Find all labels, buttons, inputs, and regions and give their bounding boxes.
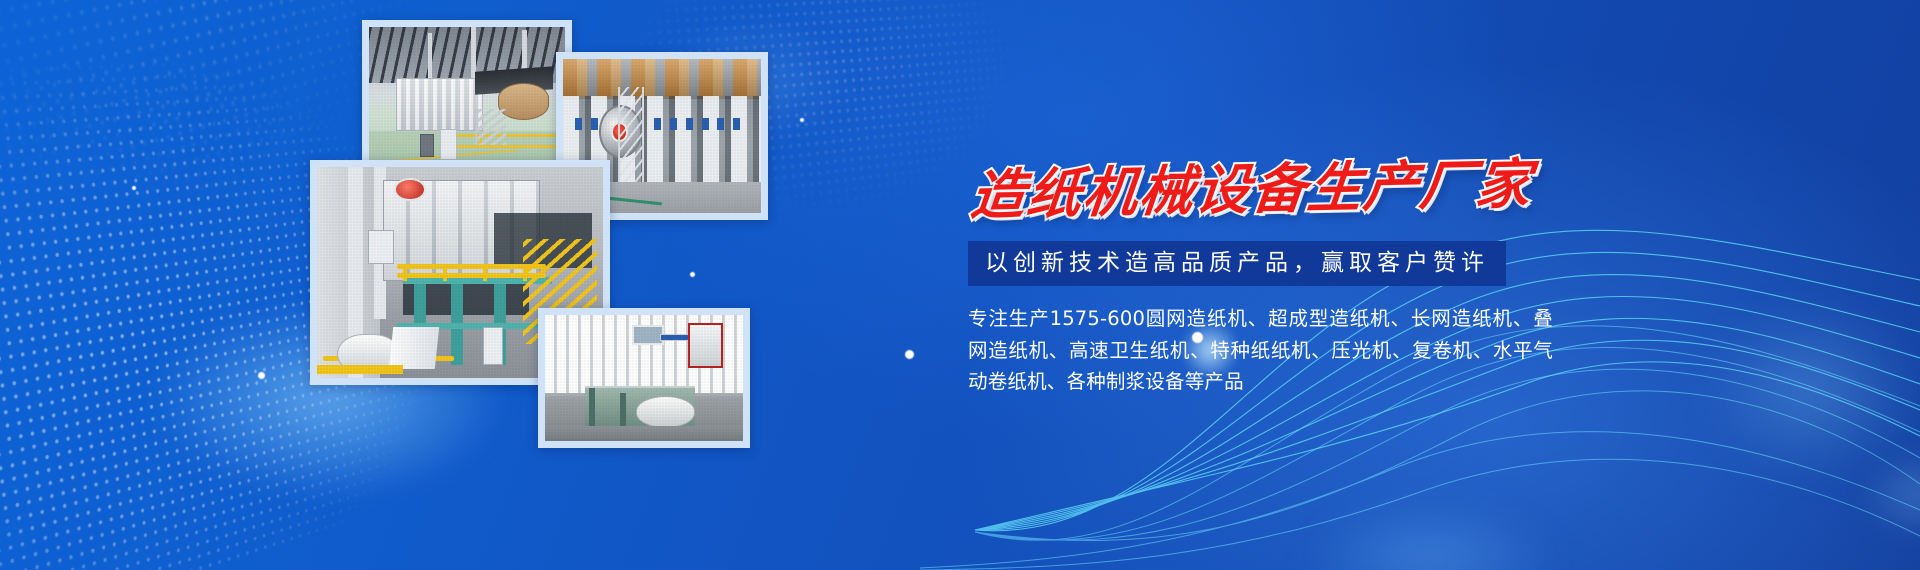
light-glow [1300,500,1560,570]
banner-subtitle: 以创新技术造高品质产品，赢取客户赞许 [985,250,1489,276]
page-title: 造纸机械设备生产厂家 [968,155,1595,225]
subtitle-bar: 以创新技术造高品质产品，赢取客户赞许 [968,241,1506,286]
photo-paper-machine-hall [362,20,572,175]
light-glow [1700,300,1920,480]
promo-banner: 造纸机械设备生产厂家 以创新技术造高品质产品，赢取客户赞许 专注生产1575-6… [0,0,1920,570]
photo-rewinder-workshop [538,308,750,448]
banner-copy: 造纸机械设备生产厂家 以创新技术造高品质产品，赢取客户赞许 专注生产1575-6… [968,168,1588,398]
banner-description: 专注生产1575-600圆网造纸机、超成型造纸机、长网造纸机、叠网造纸机、高速卫… [968,303,1553,398]
spark-dot [905,350,914,359]
light-glow [1860,450,1920,540]
